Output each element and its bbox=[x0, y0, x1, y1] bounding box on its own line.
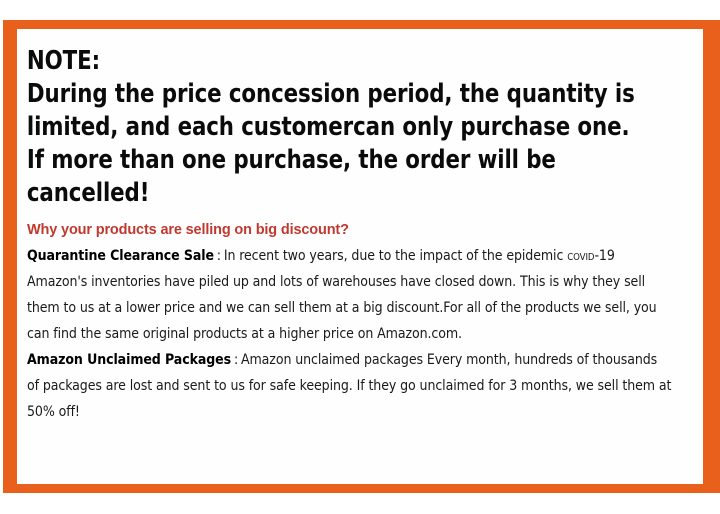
quarantine-clearance-paragraph: Quarantine Clearance Sale:In recent two … bbox=[27, 243, 672, 347]
quarantine-clearance-text-before: In recent two years, due to the impact o… bbox=[224, 247, 567, 264]
discount-question-heading: Why your products are selling on big dis… bbox=[27, 219, 699, 241]
unclaimed-packages-label: Amazon Unclaimed Packages bbox=[27, 351, 231, 368]
unclaimed-packages-paragraph: Amazon Unclaimed Packages:Amazon unclaim… bbox=[27, 347, 672, 425]
note-heading: NOTE: During the price concession period… bbox=[25, 45, 652, 210]
quarantine-clearance-text-after: Amazon's inventories have piled up and l… bbox=[27, 273, 657, 342]
covid-term: COVID-19 bbox=[567, 247, 615, 264]
note-heading-title: NOTE: bbox=[27, 46, 100, 76]
note-card-inner: NOTE: During the price concession period… bbox=[17, 29, 703, 484]
note-heading-body: During the price concession period, the … bbox=[27, 79, 642, 208]
quarantine-clearance-colon: : bbox=[214, 247, 224, 264]
note-card: NOTE: During the price concession period… bbox=[3, 20, 720, 493]
quarantine-clearance-label: Quarantine Clearance Sale bbox=[27, 247, 214, 264]
unclaimed-packages-colon: : bbox=[231, 351, 241, 368]
